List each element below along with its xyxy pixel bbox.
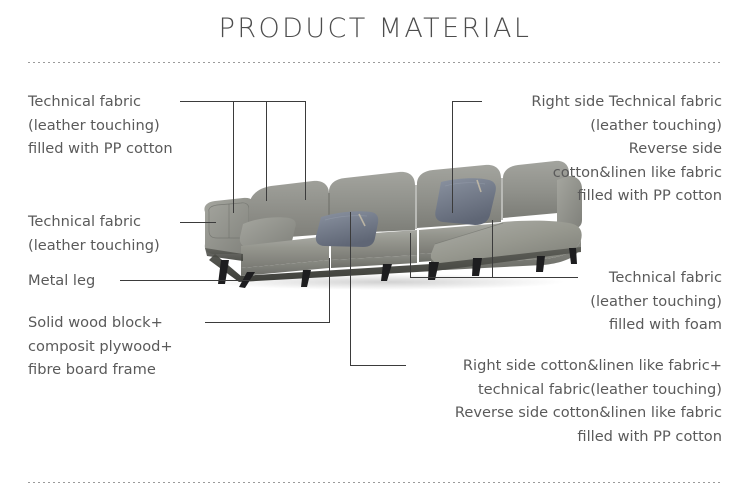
throw-pillow-left (316, 211, 378, 247)
callout-metal-leg: Metal leg (28, 269, 148, 293)
dotted-divider-top (28, 62, 722, 63)
metal-leg (569, 248, 577, 264)
leader-line-backcushion-drop-1 (233, 101, 234, 213)
callout-chaise-seat: Technical fabric (leather touching) fill… (510, 266, 722, 337)
leader-line-backcushion-drop-3 (305, 101, 306, 200)
callout-frame: Solid wood block+ composit plywood+ fibr… (28, 311, 218, 382)
callout-armrest: Technical fabric (leather touching) (28, 210, 203, 257)
leader-line-chaise-riser-2 (492, 220, 493, 277)
leader-line-seatcushion-drop (350, 212, 351, 365)
callout-seat-cushion: Right side cotton&linen like fabric+ tec… (372, 354, 722, 448)
leader-line-backcushion-drop-2 (266, 101, 267, 201)
page-title: PRODUCT MATERIAL (0, 13, 750, 44)
leader-line-chaise-riser-1 (410, 233, 411, 277)
callout-back-cushion: Technical fabric (leather touching) fill… (28, 90, 228, 161)
metal-leg (472, 258, 482, 276)
leader-line-frame-riser (329, 258, 330, 322)
callout-throw-pillow: Right side Technical fabric (leather tou… (452, 90, 722, 208)
dotted-divider-bottom (28, 482, 722, 483)
leader-line-frame-horizontal (205, 322, 330, 323)
product-material-diagram: PRODUCT MATERIAL (0, 0, 750, 503)
